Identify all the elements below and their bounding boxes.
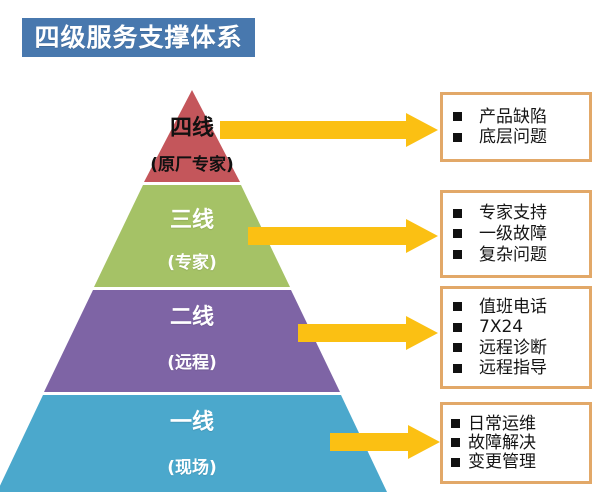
list-item-label: 一级故障 xyxy=(479,225,547,243)
callout-tier-4-list: 产品缺陷 底层问题 xyxy=(453,105,581,149)
arrow-tier-1 xyxy=(330,425,440,459)
list-item: 值班电话 xyxy=(453,298,581,316)
list-item: 远程诊断 xyxy=(453,339,581,357)
callout-tier-1[interactable]: 日常运维 故障解决 变更管理 xyxy=(440,402,592,484)
list-item-label: 远程诊断 xyxy=(479,339,547,357)
square-bullet-icon xyxy=(451,458,460,467)
list-item: 底层问题 xyxy=(453,128,581,146)
square-bullet-icon xyxy=(453,229,462,238)
list-item-label: 值班电话 xyxy=(479,298,547,316)
list-item-label: 底层问题 xyxy=(479,128,547,146)
list-item: 产品缺陷 xyxy=(453,108,581,126)
callout-tier-2[interactable]: 值班电话 7X24 远程诊断 远程指导 xyxy=(440,286,592,389)
square-bullet-icon xyxy=(453,112,462,121)
arrow-tier-3 xyxy=(248,219,438,253)
square-bullet-icon xyxy=(453,302,462,311)
pyramid-tier-2-shape[interactable] xyxy=(44,290,340,392)
list-item: 远程指导 xyxy=(453,359,581,377)
diagram-canvas: 四级服务支撑体系 四线 (原厂专家) 三线 (专家) 二线 (远程) 一线 (现… xyxy=(0,0,612,500)
list-item: 复杂问题 xyxy=(453,246,581,264)
square-bullet-icon xyxy=(453,343,462,352)
list-item-label: 复杂问题 xyxy=(479,246,547,264)
list-item-label: 7X24 xyxy=(479,318,523,336)
square-bullet-icon xyxy=(453,364,462,373)
list-item: 7X24 xyxy=(453,318,581,336)
list-item-label: 变更管理 xyxy=(468,453,536,471)
list-item-label: 远程指导 xyxy=(479,359,547,377)
list-item: 故障解决 xyxy=(451,434,581,452)
list-item: 专家支持 xyxy=(453,204,581,222)
list-item: 日常运维 xyxy=(451,415,581,433)
arrow-tier-4 xyxy=(220,113,438,147)
square-bullet-icon xyxy=(451,438,460,447)
square-bullet-icon xyxy=(453,209,462,218)
list-item-label: 故障解决 xyxy=(468,434,536,452)
square-bullet-icon xyxy=(453,133,462,142)
arrow-tier-2 xyxy=(298,316,438,350)
square-bullet-icon xyxy=(451,419,460,428)
callout-tier-3[interactable]: 专家支持 一级故障 复杂问题 xyxy=(440,190,592,278)
list-item: 一级故障 xyxy=(453,225,581,243)
list-item-label: 专家支持 xyxy=(479,204,547,222)
callout-tier-2-list: 值班电话 7X24 远程诊断 远程指导 xyxy=(453,295,581,380)
square-bullet-icon xyxy=(453,250,462,259)
list-item-label: 产品缺陷 xyxy=(479,108,547,126)
list-item-label: 日常运维 xyxy=(468,415,536,433)
callout-tier-1-list: 日常运维 故障解决 变更管理 xyxy=(451,414,581,472)
square-bullet-icon xyxy=(453,323,462,332)
callout-tier-3-list: 专家支持 一级故障 复杂问题 xyxy=(453,202,581,266)
pyramid-tier-1-shape[interactable] xyxy=(0,395,387,492)
callout-tier-4[interactable]: 产品缺陷 底层问题 xyxy=(440,92,592,162)
list-item: 变更管理 xyxy=(451,453,581,471)
